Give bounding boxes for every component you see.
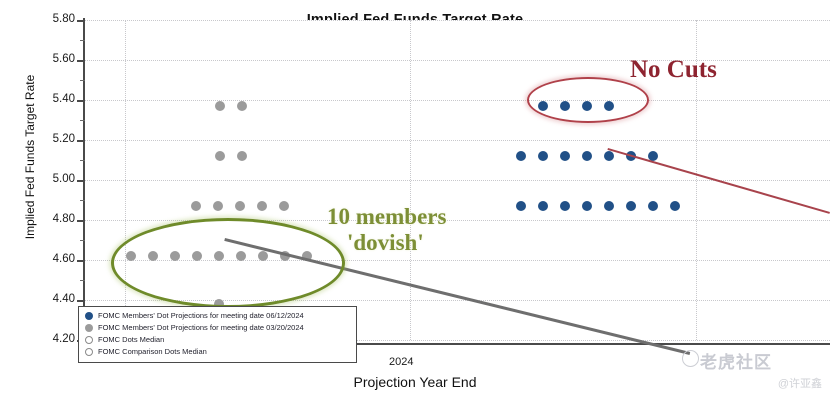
y-tick-major-4.80 <box>77 220 85 222</box>
vertical-gridline-1 <box>410 20 411 340</box>
dot-marker <box>560 151 570 161</box>
dovish-annotation-line1: 10 members <box>327 204 446 229</box>
y-tick-minor-5 <box>80 240 85 241</box>
y-tick-major-4.60 <box>77 260 85 262</box>
y-tick-minor-6 <box>80 280 85 281</box>
y-tick-label-5.20: 5.20 <box>35 133 75 145</box>
dot-marker <box>213 201 223 211</box>
y-tick-label-4.40: 4.40 <box>35 293 75 305</box>
dovish-highlight-ellipse <box>111 218 345 308</box>
legend-marker-blue-icon <box>85 312 93 320</box>
legend-label: FOMC Members' Dot Projections for meetin… <box>98 323 304 332</box>
legend-label: FOMC Dots Median <box>98 335 164 344</box>
y-tick-major-5.60 <box>77 60 85 62</box>
legend-marker-gray-icon <box>85 324 93 332</box>
chart-page: Implied Fed Funds Target Rate 5.805.605.… <box>0 0 830 409</box>
legend-item-2[interactable]: FOMC Dots Median <box>83 334 352 345</box>
legend-rows: FOMC Members' Dot Projections for meetin… <box>83 310 352 357</box>
x-axis-tick-2024: 2024 <box>389 356 413 368</box>
y-tick-label-5.40: 5.40 <box>35 93 75 105</box>
y-tick-major-4.40 <box>77 300 85 302</box>
dot-marker <box>237 151 247 161</box>
gridline-5.20 <box>84 140 830 141</box>
chart-legend: FOMC Members' Dot Projections for meetin… <box>78 306 357 363</box>
dot-marker <box>582 151 592 161</box>
dot-marker <box>582 201 592 211</box>
y-axis-title: Implied Fed Funds Target Rate <box>23 32 37 282</box>
gridline-5.80 <box>84 20 830 21</box>
legend-item-0[interactable]: FOMC Members' Dot Projections for meetin… <box>83 310 352 321</box>
watermark-text: 老虎社区 <box>700 348 830 373</box>
y-tick-minor-0 <box>80 40 85 41</box>
legend-label: FOMC Comparison Dots Median <box>98 347 207 356</box>
dot-marker <box>215 101 225 111</box>
y-tick-major-5.00 <box>77 180 85 182</box>
y-tick-major-5.20 <box>77 140 85 142</box>
y-tick-minor-3 <box>80 160 85 161</box>
dovish-annotation-label: 10 members 'dovish' <box>327 204 527 257</box>
dot-marker <box>670 201 680 211</box>
y-tick-minor-1 <box>80 80 85 81</box>
y-tick-label-5.80: 5.80 <box>35 13 75 25</box>
dot-marker <box>516 151 526 161</box>
y-tick-minor-2 <box>80 120 85 121</box>
y-tick-label-4.60: 4.60 <box>35 253 75 265</box>
dot-marker <box>604 151 614 161</box>
dot-marker <box>257 201 267 211</box>
y-tick-label-5.00: 5.00 <box>35 173 75 185</box>
dot-marker <box>191 201 201 211</box>
dot-marker <box>538 201 548 211</box>
dot-marker <box>279 201 289 211</box>
x-axis-title: Projection Year End <box>0 374 830 390</box>
legend-marker-open-icon <box>85 348 93 356</box>
gridline-5.40 <box>84 100 830 101</box>
dot-marker <box>235 201 245 211</box>
legend-item-1[interactable]: FOMC Members' Dot Projections for meetin… <box>83 322 352 333</box>
dot-marker <box>604 201 614 211</box>
dovish-annotation-line2: 'dovish' <box>347 230 527 256</box>
y-tick-major-5.80 <box>77 20 85 22</box>
dot-marker <box>626 201 636 211</box>
dot-marker <box>237 101 247 111</box>
vertical-gridline-0 <box>125 20 126 340</box>
y-tick-minor-4 <box>80 200 85 201</box>
y-tick-label-4.80: 4.80 <box>35 213 75 225</box>
legend-item-3[interactable]: FOMC Comparison Dots Median <box>83 346 352 357</box>
legend-label: FOMC Members' Dot Projections for meetin… <box>98 311 304 320</box>
dot-marker <box>648 201 658 211</box>
legend-marker-open-icon <box>85 336 93 344</box>
dot-marker <box>560 201 570 211</box>
gridline-5.60 <box>84 60 830 61</box>
y-tick-label-5.60: 5.60 <box>35 53 75 65</box>
dot-marker <box>215 151 225 161</box>
dot-marker <box>538 151 548 161</box>
no-cuts-annotation-label: No Cuts <box>630 56 717 84</box>
y-tick-major-5.40 <box>77 100 85 102</box>
y-tick-label-4.20: 4.20 <box>35 333 75 345</box>
